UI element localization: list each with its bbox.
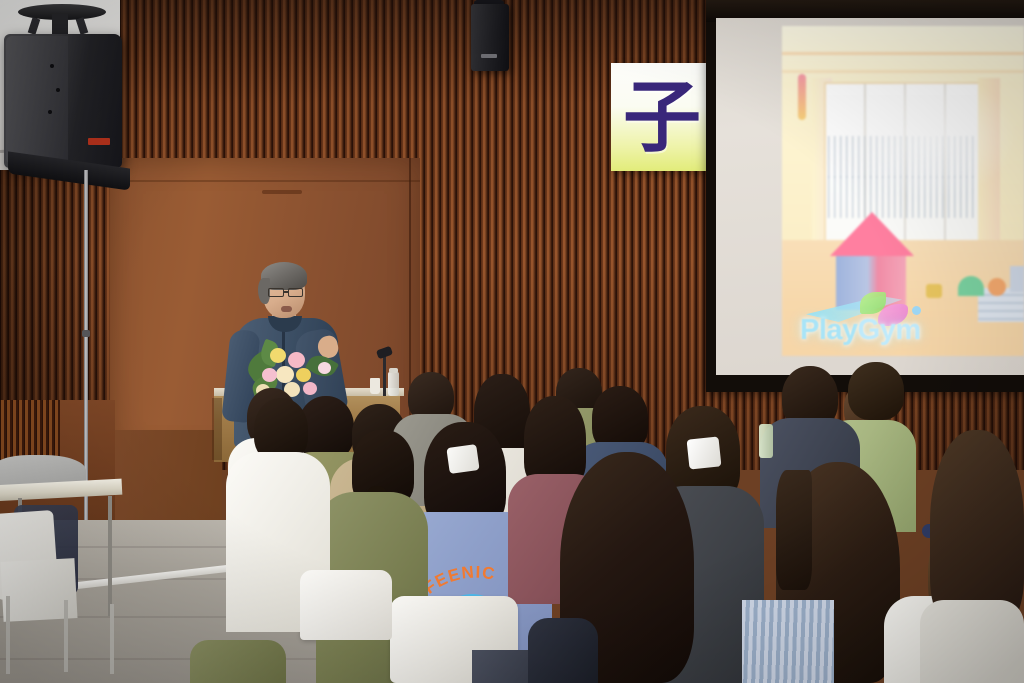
playgym-logo: PlayGym [800, 290, 950, 352]
speaker-brand-badge [88, 138, 110, 145]
logo-text: PlayGym [800, 314, 950, 347]
paper-cup [370, 378, 380, 394]
water-bottle [388, 372, 399, 396]
hair-clip [446, 444, 479, 474]
logo-text-play: Play [800, 314, 858, 346]
stand-pole [84, 170, 88, 558]
seminar-photo: 子 PlayGym [0, 0, 1024, 683]
speaker-grille [6, 36, 68, 164]
microphone-boom [383, 352, 386, 396]
kanji-character: 子 [623, 75, 719, 161]
eyeglasses-icon [268, 288, 284, 297]
wall-speaker-cabinet [471, 4, 509, 71]
kanji-sign: 子 [611, 63, 707, 171]
logo-text-gym: Gym [858, 314, 921, 346]
hair-clip [687, 436, 722, 469]
wall-speaker-badge [481, 54, 497, 58]
attendee-water-bottle [759, 424, 773, 458]
folding-chair[interactable] [300, 570, 392, 640]
